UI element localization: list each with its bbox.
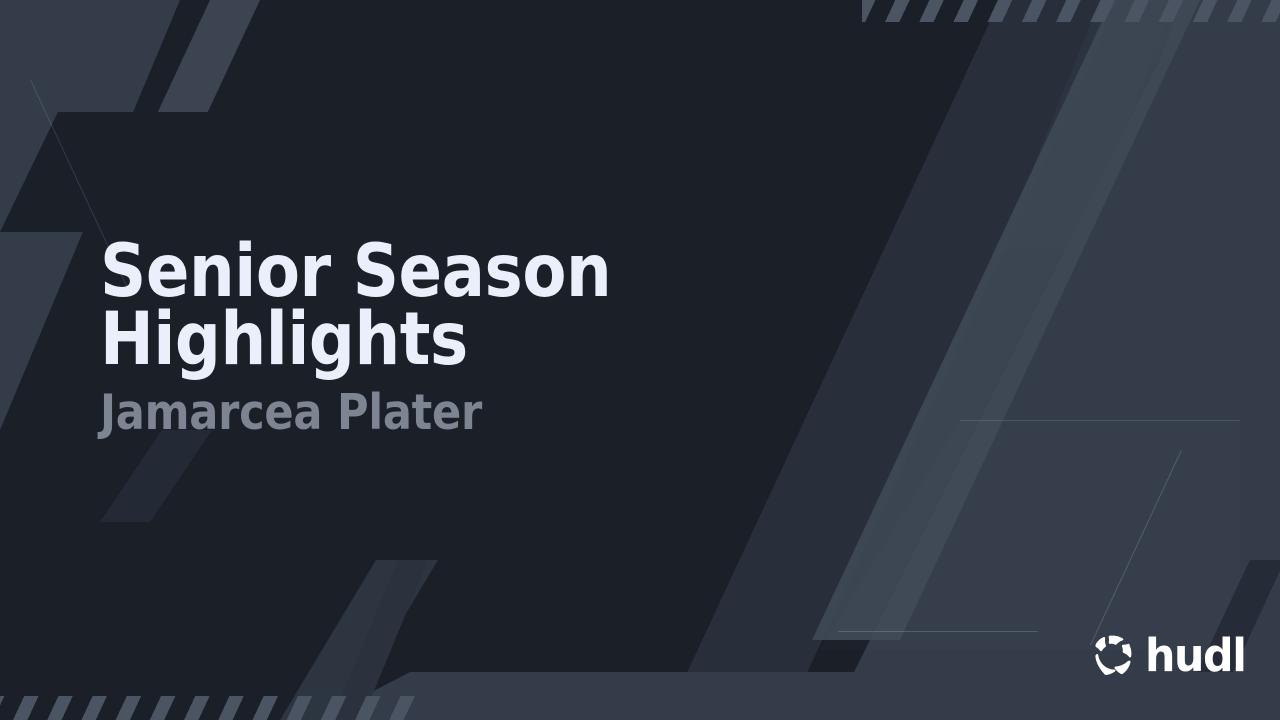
title-group: Senior Season Highlights Jamarcea Plater	[100, 238, 740, 437]
hudl-swirl-mark-icon	[1090, 634, 1136, 680]
bg-hatch-band-bottomleft	[0, 696, 420, 720]
bg-hatch-band-topright	[862, 0, 1280, 22]
hudl-logo: hudl	[1090, 634, 1251, 680]
highlight-title-card: Senior Season Highlights Jamarcea Plater…	[0, 0, 1280, 720]
bg-hairline-horizontal	[838, 631, 1038, 632]
page-title: Senior Season Highlights	[100, 238, 663, 374]
hudl-wordmark: hudl	[1145, 633, 1245, 678]
athlete-name: Jamarcea Plater	[100, 388, 663, 437]
